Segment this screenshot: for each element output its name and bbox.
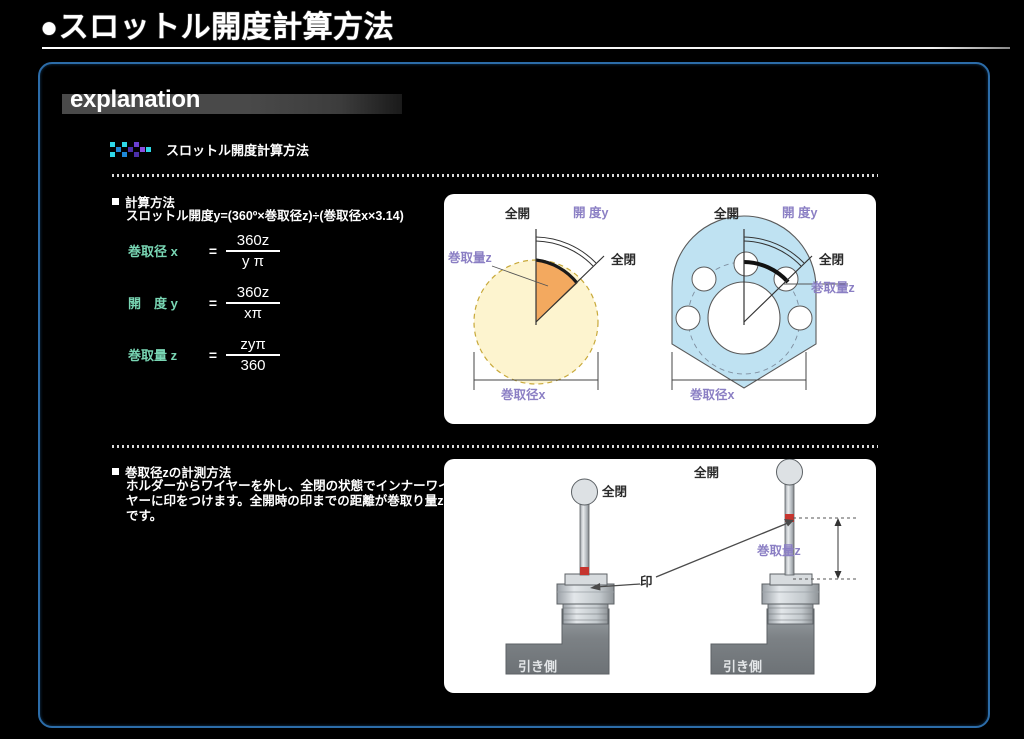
- label-right-wind-diameter: 巻取径x: [690, 384, 734, 403]
- label-left-wind-diameter: 巻取径x: [501, 384, 545, 403]
- bullet-square-icon: [112, 468, 119, 475]
- measure-method-line-1: ホルダーからワイヤーを外し、全閉の状態でインナーワイ: [126, 479, 451, 494]
- formula-eq-z: =: [200, 347, 226, 363]
- page-title: ●スロットル開度計算方法: [40, 2, 394, 46]
- label-left-opening-angle: 開 度y: [573, 202, 608, 221]
- formula-row-y: 開 度 y = 360z xπ: [128, 284, 280, 322]
- label-bottom-pull-side-right: 引き側: [723, 656, 762, 675]
- label-right-opening-angle: 開 度y: [782, 202, 817, 221]
- calc-method-label: 計算方法: [125, 196, 175, 210]
- label-bottom-wind-amount: 巻取量z: [757, 540, 801, 559]
- label-left-full-open: 全開: [505, 203, 530, 222]
- calc-method-equation: スロットル開度y=(360º×巻取径z)÷(巻取径x×3.14): [126, 209, 404, 224]
- bullet-square-icon: [112, 198, 119, 205]
- divider-dotted-top: [112, 174, 878, 177]
- figure-card-bottom: 全閉 全開 印 巻取量z 引き側 引き側: [444, 459, 876, 693]
- formula-label-x: 巻取径 x: [128, 241, 200, 260]
- formula-label-y: 開 度 y: [128, 293, 200, 312]
- formula-denominator-y: xπ: [238, 304, 268, 322]
- formula-numerator-x: 360z: [231, 232, 276, 250]
- page-root: ●スロットル開度計算方法 explanation スロットル開度計算方法 計: [0, 0, 1024, 739]
- pixel-arrow-icon: [110, 142, 156, 158]
- label-right-full-close: 全閉: [819, 249, 844, 268]
- formula-row-x: 巻取径 x = 360z y π: [128, 232, 280, 270]
- wire-measurement-diagram: [444, 459, 876, 693]
- formula-fraction-z: zyπ 360: [226, 336, 280, 374]
- divider-dotted-bottom: [112, 445, 878, 448]
- formula-denominator-z: 360: [234, 356, 271, 374]
- formula-denominator-x: y π: [236, 252, 270, 270]
- formula-numerator-y: 360z: [231, 284, 276, 302]
- label-right-wind-amount: 巻取量z: [811, 277, 855, 296]
- label-left-full-close: 全閉: [611, 249, 636, 268]
- section-heading-text: スロットル開度計算方法: [166, 140, 309, 159]
- formula-fraction-y: 360z xπ: [226, 284, 280, 322]
- figure-card-top: 全開 開 度y 全閉 巻取量z 巻取径x 全開 開 度y 全閉 巻取量z 巻取径…: [444, 194, 876, 424]
- measure-method-label: 巻取径zの計測方法: [125, 466, 231, 480]
- title-divider: [42, 47, 1010, 49]
- formula-eq-y: =: [200, 295, 226, 311]
- label-bottom-full-open: 全開: [694, 462, 719, 481]
- section-heading: スロットル開度計算方法: [110, 140, 309, 160]
- formula-fraction-x: 360z y π: [226, 232, 280, 270]
- formula-eq-x: =: [200, 243, 226, 259]
- explanation-header-label: explanation: [70, 86, 200, 114]
- label-left-wind-amount: 巻取量z: [448, 247, 492, 266]
- label-bottom-pull-side-left: 引き側: [518, 656, 557, 675]
- formula-row-z: 巻取量 z = zyπ 360: [128, 336, 280, 374]
- label-right-full-open: 全開: [714, 203, 739, 222]
- measure-method-line-3: です。: [126, 509, 162, 524]
- label-bottom-mark: 印: [640, 571, 653, 590]
- explanation-panel: explanation スロットル開度計算方法 計算方法 スロットル開度y=(3…: [38, 62, 990, 728]
- formula-label-z: 巻取量 z: [128, 345, 200, 364]
- formula-numerator-z: zyπ: [234, 336, 271, 354]
- label-bottom-full-close: 全閉: [602, 481, 627, 500]
- measure-method-line-2: ヤーに印をつけます。全開時の印までの距離が巻取り量z: [126, 494, 444, 509]
